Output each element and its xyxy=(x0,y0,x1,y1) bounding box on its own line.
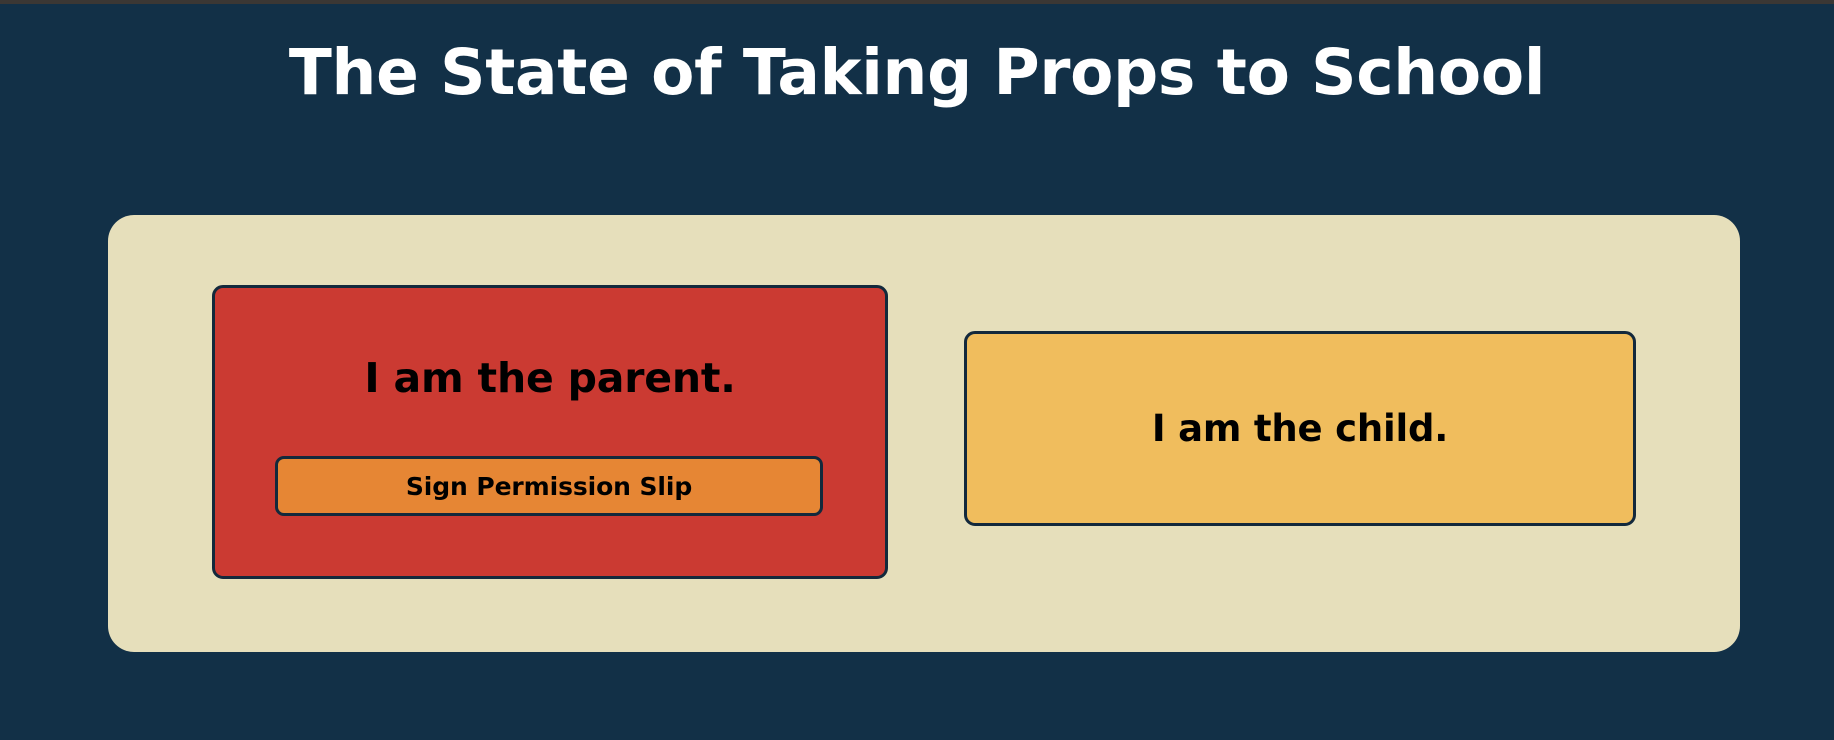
sign-permission-slip-button[interactable]: Sign Permission Slip xyxy=(275,456,823,516)
page-title: The State of Taking Props to School xyxy=(0,38,1834,107)
parent-card-label: I am the parent. xyxy=(215,354,885,402)
child-card[interactable]: I am the child. xyxy=(964,331,1636,526)
child-card-label: I am the child. xyxy=(1152,407,1448,450)
page-root: The State of Taking Props to School I am… xyxy=(0,4,1834,740)
parent-card[interactable]: I am the parent. Sign Permission Slip xyxy=(212,285,888,579)
content-panel: I am the parent. Sign Permission Slip I … xyxy=(108,215,1740,652)
